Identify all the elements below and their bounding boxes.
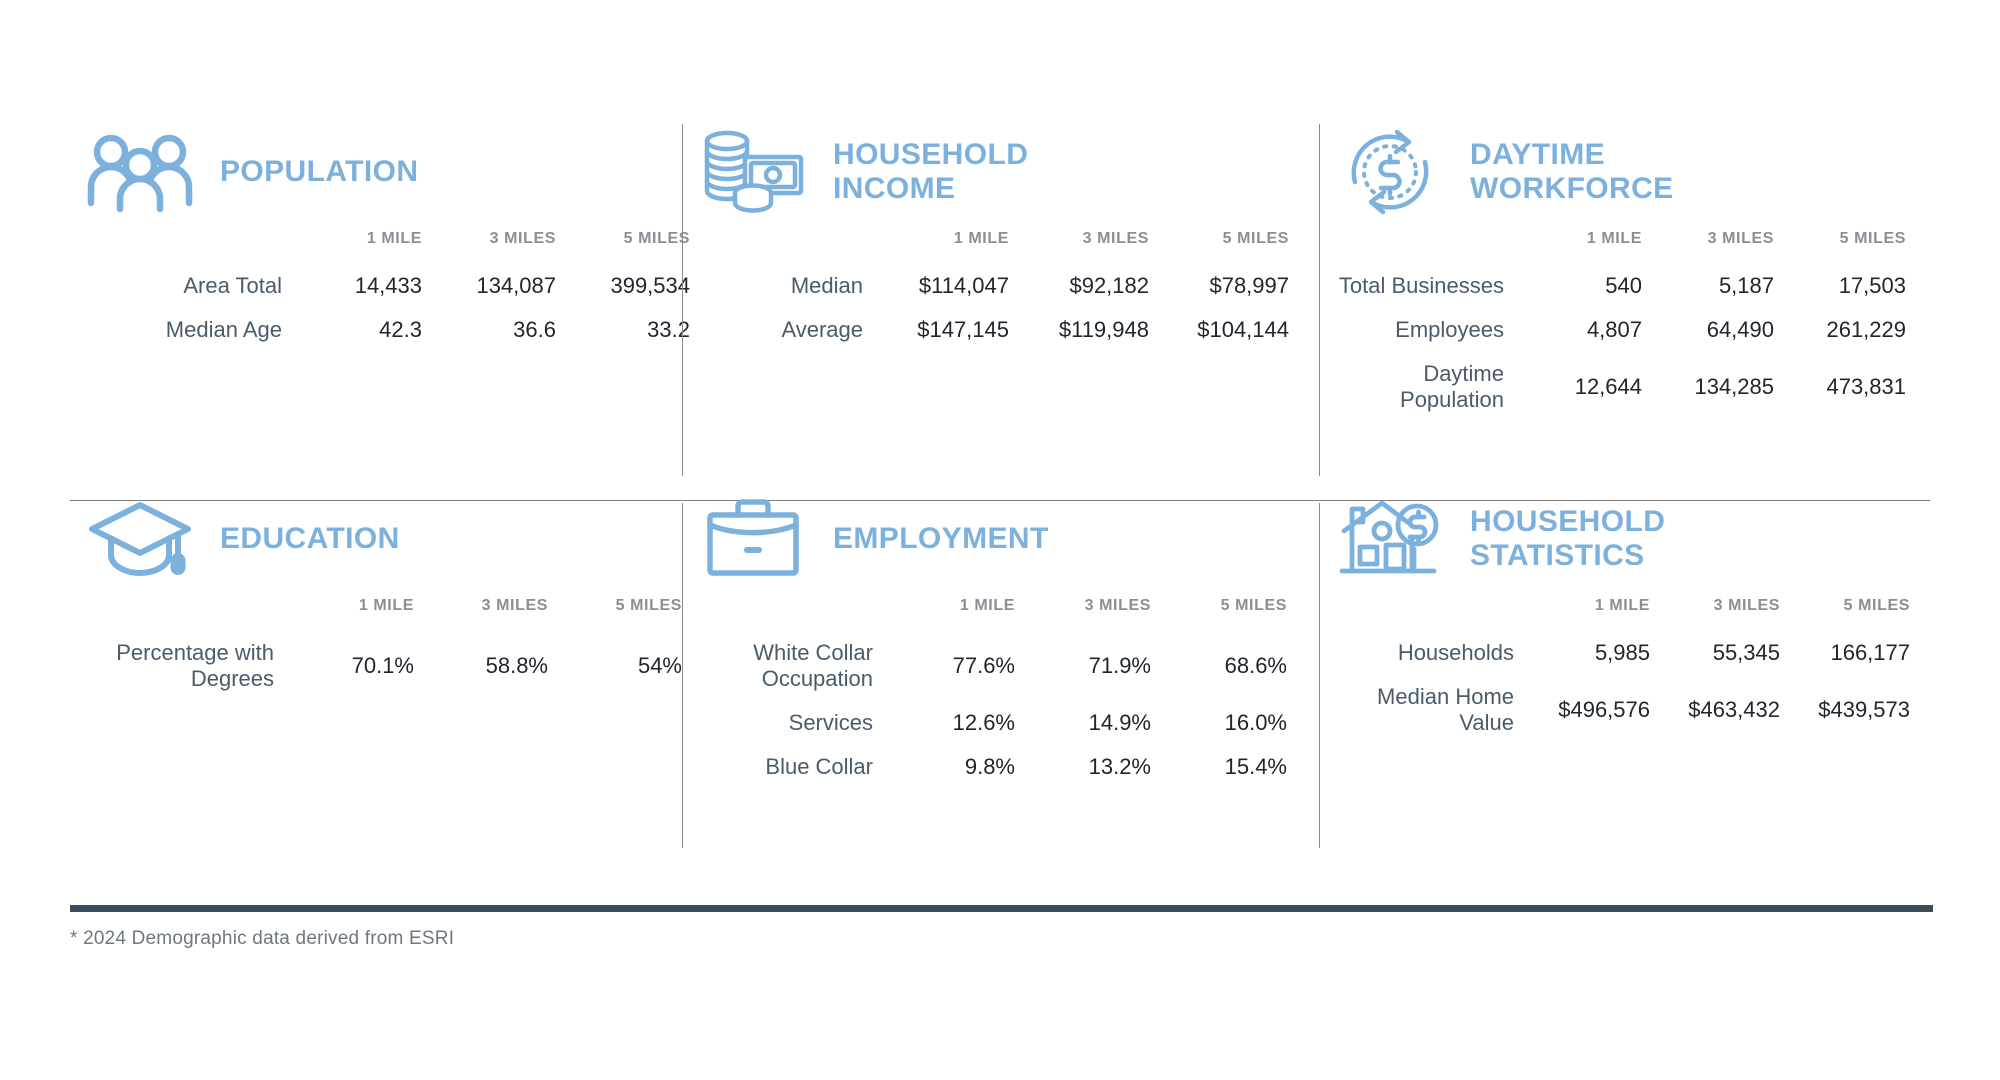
cell-value: $114,047: [869, 264, 1009, 308]
cell-value: 166,177: [1780, 631, 1910, 675]
money-icon: [697, 124, 809, 220]
col-header-1mile: 1 MILE: [879, 597, 1015, 631]
panel-daytime-workforce-title: DAYTIME WORKFORCE: [1470, 138, 1690, 205]
col-header-3miles: 3 MILES: [1015, 597, 1151, 631]
col-header-3miles: 3 MILES: [422, 230, 556, 264]
col-header-3miles: 3 MILES: [414, 597, 548, 631]
cell-value: $78,997: [1149, 264, 1289, 308]
row-label: Average: [683, 308, 869, 352]
col-header-5miles: 5 MILES: [556, 230, 690, 264]
row-label: Median Home Value: [1320, 675, 1520, 745]
panel-grid: POPULATION 1 MILE 3 MILES 5 MILES Area T…: [70, 118, 1930, 852]
graduation-cap-icon: [84, 491, 196, 587]
col-header-1mile: 1 MILE: [1510, 230, 1642, 264]
panel-household-income: HOUSEHOLD INCOME 1 MILE 3 MILES 5 MILES …: [683, 118, 1320, 485]
cell-value: 64,490: [1642, 308, 1774, 352]
table-header-row: 1 MILE 3 MILES 5 MILES: [683, 597, 1287, 631]
cell-value: $104,144: [1149, 308, 1289, 352]
table-row: Employees 4,807 64,490 261,229: [1320, 308, 1906, 352]
panel-education-title: EDUCATION: [220, 522, 400, 556]
row-label: Services: [683, 701, 879, 745]
row-label: Total Businesses: [1320, 264, 1510, 308]
table-row: Households 5,985 55,345 166,177: [1320, 631, 1910, 675]
table-row: Area Total 14,433 134,087 399,534: [70, 264, 690, 308]
household-statistics-table: 1 MILE 3 MILES 5 MILES Households 5,985 …: [1320, 597, 1910, 745]
row-label: Daytime Population: [1320, 352, 1510, 422]
table-row: Median Age 42.3 36.6 33.2: [70, 308, 690, 352]
row-label: Median Age: [70, 308, 288, 352]
row-label: Employees: [1320, 308, 1510, 352]
cell-value: 54%: [548, 631, 682, 701]
panel-education: EDUCATION 1 MILE 3 MILES 5 MILES Percent…: [70, 485, 683, 852]
cell-value: $439,573: [1780, 675, 1910, 745]
panel-population: POPULATION 1 MILE 3 MILES 5 MILES Area T…: [70, 118, 683, 485]
cell-value: 68.6%: [1151, 631, 1287, 701]
col-header-1mile: 1 MILE: [288, 230, 422, 264]
cell-value: 15.4%: [1151, 745, 1287, 789]
col-header-5miles: 5 MILES: [1780, 597, 1910, 631]
cell-value: 134,285: [1642, 352, 1774, 422]
col-header-5miles: 5 MILES: [1774, 230, 1906, 264]
people-icon: [84, 124, 196, 220]
table-header-row: 1 MILE 3 MILES 5 MILES: [1320, 597, 1910, 631]
col-header-1mile: 1 MILE: [1520, 597, 1650, 631]
table-row: Services 12.6% 14.9% 16.0%: [683, 701, 1287, 745]
cell-value: 540: [1510, 264, 1642, 308]
table-header-row: 1 MILE 3 MILES 5 MILES: [70, 230, 690, 264]
dollar-cycle-icon: [1334, 124, 1446, 220]
table-header-row: 1 MILE 3 MILES 5 MILES: [683, 230, 1289, 264]
cell-value: 473,831: [1774, 352, 1906, 422]
table-row: Median $114,047 $92,182 $78,997: [683, 264, 1289, 308]
briefcase-icon: [697, 491, 809, 587]
table-header-row: 1 MILE 3 MILES 5 MILES: [70, 597, 682, 631]
cell-value: $463,432: [1650, 675, 1780, 745]
household-income-table: 1 MILE 3 MILES 5 MILES Median $114,047 $…: [683, 230, 1289, 352]
panel-employment: EMPLOYMENT 1 MILE 3 MILES 5 MILES White …: [683, 485, 1320, 852]
panel-daytime-workforce-header: DAYTIME WORKFORCE: [1320, 118, 1896, 226]
col-header-1mile: 1 MILE: [280, 597, 414, 631]
table-row: Daytime Population 12,644 134,285 473,83…: [1320, 352, 1906, 422]
row-label: Median: [683, 264, 869, 308]
col-header-3miles: 3 MILES: [1650, 597, 1780, 631]
cell-value: 12.6%: [879, 701, 1015, 745]
panel-population-header: POPULATION: [70, 118, 649, 226]
table-row: Median Home Value $496,576 $463,432 $439…: [1320, 675, 1910, 745]
panel-household-statistics-title: HOUSEHOLD STATISTICS: [1470, 505, 1690, 572]
col-header-3miles: 3 MILES: [1009, 230, 1149, 264]
col-header-1mile: 1 MILE: [869, 230, 1009, 264]
footer-note: * 2024 Demographic data derived from ESR…: [70, 928, 454, 950]
panel-education-header: EDUCATION: [70, 485, 649, 593]
cell-value: $119,948: [1009, 308, 1149, 352]
table-row: Percentage with Degrees 70.1% 58.8% 54%: [70, 631, 682, 701]
table-row: Average $147,145 $119,948 $104,144: [683, 308, 1289, 352]
table-header-row: 1 MILE 3 MILES 5 MILES: [1320, 230, 1906, 264]
cell-value: 261,229: [1774, 308, 1906, 352]
house-dollar-icon: [1334, 491, 1446, 587]
panel-household-income-title: HOUSEHOLD INCOME: [833, 138, 1053, 205]
row-label: Percentage with Degrees: [70, 631, 280, 701]
cell-value: 14.9%: [1015, 701, 1151, 745]
cell-value: 55,345: [1650, 631, 1780, 675]
cell-value: 4,807: [1510, 308, 1642, 352]
cell-value: $92,182: [1009, 264, 1149, 308]
col-header-5miles: 5 MILES: [1149, 230, 1289, 264]
population-table: 1 MILE 3 MILES 5 MILES Area Total 14,433…: [70, 230, 690, 352]
cell-value: 33.2: [556, 308, 690, 352]
table-row: Total Businesses 540 5,187 17,503: [1320, 264, 1906, 308]
panel-daytime-workforce: DAYTIME WORKFORCE 1 MILE 3 MILES 5 MILES…: [1320, 118, 1930, 485]
cell-value: 36.6: [422, 308, 556, 352]
cell-value: 399,534: [556, 264, 690, 308]
panel-household-statistics-header: HOUSEHOLD STATISTICS: [1320, 485, 1896, 593]
row-label: Blue Collar: [683, 745, 879, 789]
cell-value: $496,576: [1520, 675, 1650, 745]
panel-employment-title: EMPLOYMENT: [833, 522, 1049, 556]
cell-value: $147,145: [869, 308, 1009, 352]
cell-value: 9.8%: [879, 745, 1015, 789]
cell-value: 14,433: [288, 264, 422, 308]
daytime-workforce-table: 1 MILE 3 MILES 5 MILES Total Businesses …: [1320, 230, 1906, 422]
cell-value: 17,503: [1774, 264, 1906, 308]
cell-value: 5,985: [1520, 631, 1650, 675]
footer-rule: [70, 905, 1933, 912]
cell-value: 77.6%: [879, 631, 1015, 701]
cell-value: 134,087: [422, 264, 556, 308]
employment-table: 1 MILE 3 MILES 5 MILES White Collar Occu…: [683, 597, 1287, 789]
cell-value: 13.2%: [1015, 745, 1151, 789]
panel-population-title: POPULATION: [220, 155, 418, 189]
col-header-5miles: 5 MILES: [1151, 597, 1287, 631]
cell-value: 58.8%: [414, 631, 548, 701]
row-label: White Collar Occupation: [683, 631, 879, 701]
demographics-infographic: POPULATION 1 MILE 3 MILES 5 MILES Area T…: [0, 0, 2000, 1080]
table-row: White Collar Occupation 77.6% 71.9% 68.6…: [683, 631, 1287, 701]
col-header-5miles: 5 MILES: [548, 597, 682, 631]
cell-value: 5,187: [1642, 264, 1774, 308]
cell-value: 42.3: [288, 308, 422, 352]
panel-household-income-header: HOUSEHOLD INCOME: [683, 118, 1286, 226]
row-label: Area Total: [70, 264, 288, 308]
row-label: Households: [1320, 631, 1520, 675]
education-table: 1 MILE 3 MILES 5 MILES Percentage with D…: [70, 597, 682, 701]
cell-value: 70.1%: [280, 631, 414, 701]
panel-employment-header: EMPLOYMENT: [683, 485, 1286, 593]
cell-value: 71.9%: [1015, 631, 1151, 701]
panel-household-statistics: HOUSEHOLD STATISTICS 1 MILE 3 MILES 5 MI…: [1320, 485, 1930, 852]
col-header-3miles: 3 MILES: [1642, 230, 1774, 264]
cell-value: 16.0%: [1151, 701, 1287, 745]
cell-value: 12,644: [1510, 352, 1642, 422]
table-row: Blue Collar 9.8% 13.2% 15.4%: [683, 745, 1287, 789]
